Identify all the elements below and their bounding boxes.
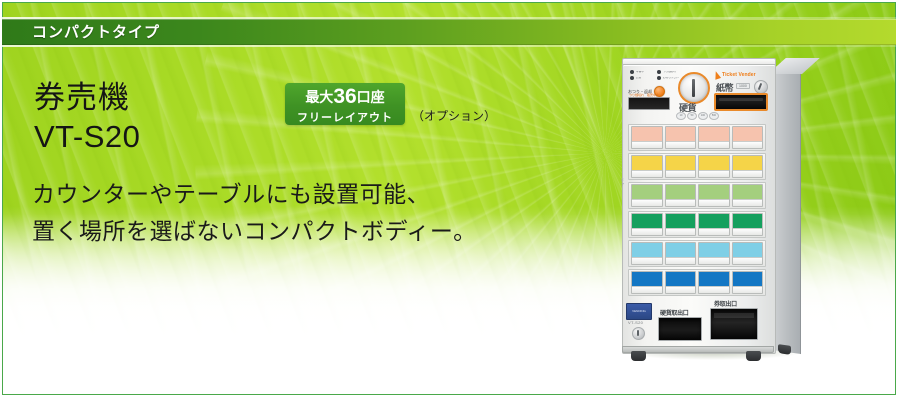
button-price-strip [632, 199, 662, 206]
button-color-face [733, 214, 763, 228]
selection-button-grid[interactable] [628, 124, 766, 298]
button-color-face [666, 214, 696, 228]
button-row [628, 269, 766, 296]
button-row [628, 153, 766, 180]
lamp-dot-icon [657, 76, 661, 80]
button-price-strip [733, 257, 763, 264]
ticket-outlet-label: 券取出口 [714, 299, 737, 308]
button-row [628, 211, 766, 238]
lamp-label: 売切 [636, 77, 641, 80]
feature-badge-line-2: フリーレイアウト [285, 109, 405, 125]
button-price-strip [699, 170, 729, 177]
button-color-face [733, 127, 763, 141]
button-price-strip [733, 286, 763, 293]
machine-lower-front: VENDING VT-S20 硬貨取出口 券取出口 [626, 303, 768, 347]
selection-button[interactable] [698, 213, 730, 236]
coin-slit-icon [692, 79, 695, 97]
button-price-strip [699, 228, 729, 235]
selection-button[interactable] [698, 184, 730, 207]
button-price-strip [666, 228, 696, 235]
button-price-strip [733, 228, 763, 235]
machine-side-panel [772, 66, 801, 354]
button-price-strip [699, 141, 729, 148]
status-lamp: つり銭切れ [657, 70, 684, 74]
button-color-face [733, 243, 763, 257]
lamp-label: 準備中 [636, 71, 644, 74]
selection-button[interactable] [732, 184, 764, 207]
machine-side-mark: ドア [620, 178, 624, 187]
status-lamp: 売切 [630, 76, 657, 80]
bill-insert-slot[interactable] [714, 93, 768, 111]
button-color-face [632, 127, 662, 141]
button-price-strip [699, 199, 729, 206]
product-banner: コンパクトタイプ 券売機 VT-S20 カウンターやテーブルにも設置可能、 置く… [0, 0, 900, 413]
selection-button[interactable] [665, 155, 697, 178]
button-color-face [699, 127, 729, 141]
button-color-face [632, 243, 662, 257]
ticket-vender-mark-icon [713, 70, 721, 79]
coin-denomination: 100 [698, 112, 708, 120]
button-color-face [632, 185, 662, 199]
button-price-strip [632, 257, 662, 264]
selection-button[interactable] [732, 126, 764, 149]
selection-button[interactable] [665, 213, 697, 236]
lamp-label: お待ち下さい [663, 77, 679, 80]
button-price-strip [733, 141, 763, 148]
button-color-face [699, 272, 729, 286]
badge-number: 36 [333, 85, 356, 108]
tagline: カウンターやテーブルにも設置可能、 置く場所を選ばないコンパクトボディー。 [32, 176, 477, 251]
machine-foot [746, 351, 761, 361]
button-row [628, 240, 766, 267]
button-price-strip [733, 170, 763, 177]
coin-denomination-list: 10 50 100 500 [676, 112, 720, 120]
selection-button[interactable] [665, 271, 697, 294]
ticket-vender-logo-text: Ticket Vender [722, 72, 756, 78]
button-price-strip [632, 286, 662, 293]
selection-button[interactable] [631, 126, 663, 149]
machine-control-panel: 準備中 つり銭切れ 売切 お待ち下さい おつり・返却 つ [626, 68, 768, 120]
button-color-face [632, 156, 662, 170]
selection-button[interactable] [631, 242, 663, 265]
selection-button[interactable] [631, 184, 663, 207]
product-name: 券売機 [34, 78, 130, 118]
product-model: VT-S20 [34, 117, 140, 157]
coin-outlet [658, 317, 702, 341]
button-color-face [733, 272, 763, 286]
button-row [628, 182, 766, 209]
machine-model-tag: VT-S20 [628, 320, 643, 325]
selection-button[interactable] [698, 155, 730, 178]
button-color-face [733, 156, 763, 170]
button-color-face [699, 185, 729, 199]
lamp-dot-icon [657, 70, 661, 74]
button-color-face [666, 156, 696, 170]
brand-badge: VENDING [626, 303, 652, 320]
button-color-face [699, 156, 729, 170]
button-price-strip [733, 199, 763, 206]
button-color-face [632, 272, 662, 286]
button-price-strip [666, 286, 696, 293]
button-color-face [666, 272, 696, 286]
selection-button[interactable] [631, 213, 663, 236]
button-price-strip [632, 170, 662, 177]
coin-insert-slot[interactable] [678, 72, 710, 104]
button-price-strip [632, 141, 662, 148]
ticket-vender-logo: Ticket Vender [714, 71, 756, 79]
status-lamp: 準備中 [630, 70, 657, 74]
badge-prefix: 最大 [305, 89, 333, 105]
tagline-line-1: カウンターやテーブルにも設置可能、 [32, 176, 477, 213]
selection-button[interactable] [665, 184, 697, 207]
selection-button[interactable] [732, 271, 764, 294]
selection-button[interactable] [732, 242, 764, 265]
feature-badge-line-1: 最大36口座 [285, 86, 405, 108]
coin-outlet-label: 硬貨取出口 [660, 308, 689, 317]
button-color-face [632, 214, 662, 228]
button-color-face [666, 127, 696, 141]
selection-button[interactable] [732, 213, 764, 236]
ribbon-bottom-highlight [2, 45, 896, 47]
key-lock-icon[interactable] [754, 80, 768, 94]
cabinet-lock-icon[interactable] [632, 327, 645, 340]
selection-button[interactable] [698, 126, 730, 149]
button-color-face [666, 243, 696, 257]
button-price-strip [666, 257, 696, 264]
selection-button[interactable] [698, 242, 730, 265]
coin-denomination: 500 [709, 112, 719, 120]
feature-badge: 最大36口座 フリーレイアウト [285, 83, 405, 125]
tagline-line-2: 置く場所を選ばないコンパクトボディー。 [32, 213, 477, 250]
button-color-face [666, 185, 696, 199]
badge-suffix: 口座 [357, 89, 385, 105]
button-color-face [699, 243, 729, 257]
machine-foot [778, 344, 791, 355]
button-row [628, 124, 766, 151]
button-price-strip [699, 286, 729, 293]
button-price-strip [699, 257, 729, 264]
lamp-dot-icon [630, 70, 634, 74]
category-ribbon: コンパクトタイプ [2, 17, 896, 47]
selection-button[interactable] [732, 155, 764, 178]
ribbon-label: コンパクトタイプ [32, 21, 160, 42]
coin-denomination: 10 [676, 112, 686, 120]
vending-machine-image: 準備中 つり銭切れ 売切 お待ち下さい おつり・返却 つ [618, 58, 818, 363]
button-color-face [699, 214, 729, 228]
button-price-strip [632, 228, 662, 235]
lamp-dot-icon [630, 76, 634, 80]
option-note: （オプション） [412, 107, 496, 124]
selection-button[interactable] [698, 271, 730, 294]
coin-denomination: 50 [687, 112, 697, 120]
selection-button[interactable] [665, 126, 697, 149]
machine-foot [631, 351, 646, 361]
lcd-display [628, 97, 670, 110]
lamp-label: つり銭切れ [663, 71, 676, 74]
button-price-strip [666, 170, 696, 177]
selection-button[interactable] [631, 271, 663, 294]
ticket-outlet [710, 308, 758, 340]
button-price-strip [666, 199, 696, 206]
selection-button[interactable] [631, 155, 663, 178]
button-price-strip [666, 141, 696, 148]
selection-button[interactable] [665, 242, 697, 265]
button-color-face [733, 185, 763, 199]
status-lamp-grid: 準備中 つり銭切れ 売切 お待ち下さい [630, 70, 684, 82]
bill-denomination-chip: 1000 [736, 83, 750, 89]
